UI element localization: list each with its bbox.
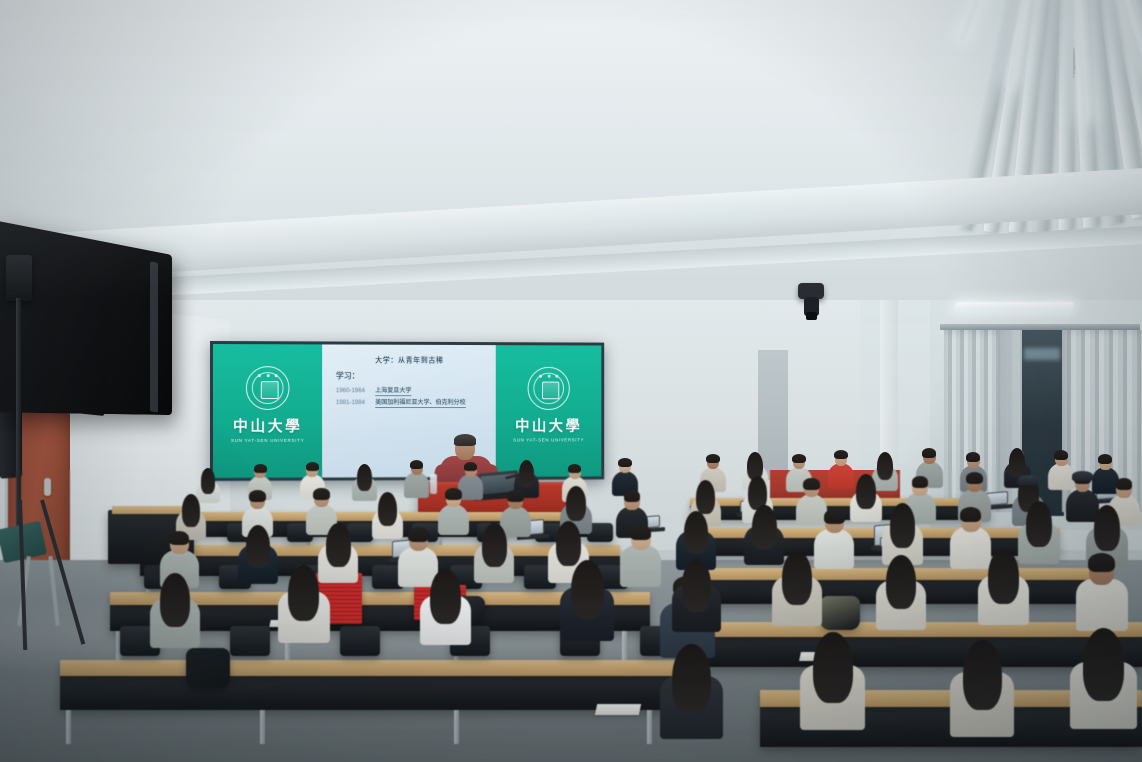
audience-long-hair [1083, 628, 1124, 701]
audience-member [772, 548, 822, 624]
door-handle-icon[interactable] [44, 478, 51, 496]
audience-long-hair [813, 632, 853, 703]
wall-mounted-tv[interactable] [0, 220, 172, 415]
audience-member [978, 546, 1029, 623]
audience-member [850, 472, 882, 521]
audience-hair [1054, 450, 1068, 460]
presenter-hair [454, 434, 476, 446]
audience-hair [1088, 553, 1115, 572]
audience-long-hair [782, 551, 812, 605]
audience-member [800, 628, 865, 727]
slide-entry-text: 上海复旦大学 [375, 387, 411, 395]
audience-torso [438, 504, 469, 535]
audience-long-hair [1026, 501, 1052, 547]
sysu-seal-icon [528, 367, 570, 410]
audience-long-hair [430, 569, 461, 624]
audience-long-hair [246, 525, 270, 568]
backpack [186, 648, 230, 688]
audience-hair [410, 460, 423, 469]
sysu-cn-name: 中山大學 [213, 415, 322, 436]
desk-leg [622, 631, 627, 660]
audience-torso [1076, 579, 1128, 631]
audience-long-hair [482, 523, 507, 567]
classroom-chair[interactable] [230, 626, 270, 656]
audience-hair [249, 490, 265, 502]
desk-leg [647, 710, 652, 744]
backpack [820, 596, 860, 630]
audience-hair [706, 454, 719, 464]
slide-entry-text: 美国加利福尼亚大学、伯克利分校 [375, 399, 465, 407]
tv-edge [150, 261, 158, 412]
audience-long-hair [672, 644, 711, 713]
audience-long-hair [890, 503, 915, 548]
audience-long-hair [682, 559, 712, 612]
audience-long-hair [201, 468, 216, 494]
audience-hair [445, 488, 461, 500]
sysu-cn-name: 中山大學 [496, 415, 602, 436]
audience-hair [1116, 478, 1133, 490]
baseball-cap [1072, 471, 1092, 480]
audience-long-hair [1009, 448, 1025, 477]
audience-member [876, 552, 926, 628]
audience-long-hair [357, 464, 372, 491]
audience-member [1070, 624, 1137, 726]
audience-torso [404, 472, 429, 497]
window-glint [1024, 348, 1060, 360]
audience-hair [792, 454, 805, 464]
audience-long-hair [988, 549, 1019, 604]
audience-long-hair [1094, 505, 1120, 551]
audience-long-hair [571, 560, 604, 619]
audience-long-hair [326, 523, 351, 567]
audience-member [672, 556, 721, 630]
audience-hair [912, 476, 929, 488]
audience-long-hair [182, 494, 200, 527]
audience-member [560, 556, 614, 639]
sysu-en-name: SUN YAT-SEN UNIVERSITY [496, 437, 602, 442]
audience-member [660, 640, 723, 737]
sysu-logo-right: 中山大學 SUN YAT-SEN UNIVERSITY [496, 367, 602, 443]
audience-long-hair [684, 511, 708, 554]
sysu-en-name: SUN YAT-SEN UNIVERSITY [213, 438, 322, 443]
audience-hair [1098, 454, 1112, 464]
audience-member [404, 458, 429, 497]
audience-hair [966, 452, 980, 462]
audience-member [620, 522, 661, 585]
audience-hair [169, 531, 189, 545]
audience-hair [922, 448, 936, 458]
audience-member [238, 522, 278, 582]
audience-hair [464, 462, 477, 471]
student-desk [60, 660, 680, 676]
audience-long-hair [566, 486, 586, 521]
audience-hair [834, 450, 848, 460]
baseball-cap [1018, 475, 1038, 484]
sysu-logo-left: 中山大學 SUN YAT-SEN UNIVERSITY [213, 366, 322, 443]
audience-hair [254, 464, 267, 473]
desk-leg [454, 710, 459, 744]
audience-hair [960, 507, 982, 522]
water-bottle [430, 474, 437, 494]
audience-hair [507, 490, 523, 502]
audience-hair [618, 458, 631, 468]
audience-hair [630, 525, 652, 540]
audience-long-hair [963, 640, 1002, 710]
audience-long-hair [378, 492, 397, 526]
audience-member [950, 636, 1014, 734]
student-desk [690, 498, 990, 506]
slide-title: 大学：从青年到古稀 [322, 355, 496, 365]
audience-hair [306, 462, 319, 471]
audience-long-hair [752, 505, 777, 549]
audience-hair [824, 509, 845, 524]
paper-sheet [595, 704, 641, 715]
classroom-chair[interactable] [340, 626, 380, 656]
slide-entry-row: 1960-1964上海复旦大学 [336, 385, 412, 394]
audience-long-hair [288, 565, 319, 621]
audience-torso [620, 545, 661, 586]
audience-long-hair [856, 474, 876, 509]
sysu-seal-icon [246, 366, 290, 410]
slide-entry-years: 1960-1964 [336, 387, 375, 394]
audience-member [1076, 550, 1128, 628]
desk-front-panel [60, 676, 680, 710]
audience-member [278, 562, 330, 640]
audience-hair [966, 472, 983, 484]
audience-hair [568, 464, 581, 473]
pa-speaker [6, 255, 32, 301]
audience-member [420, 566, 471, 643]
slide-section-label: 学习： [336, 370, 360, 381]
audience-long-hair [519, 460, 534, 488]
audience-long-hair [160, 573, 190, 627]
audience-hair [313, 488, 329, 500]
audience-member [474, 520, 514, 582]
audience-long-hair [886, 555, 916, 609]
audience-hair [624, 490, 641, 502]
slide-entry-years: 1981-1984 [336, 399, 375, 406]
slide-entry-row: 1981-1984美国加利福尼亚大学、伯克利分校 [336, 397, 466, 406]
ceiling-light-right [954, 302, 1075, 311]
audience-member [150, 570, 200, 646]
audience-hair [408, 527, 429, 542]
audience-member [438, 486, 469, 534]
lecture-hall-photo: 大学：从青年到古稀 学习： 1960-1964上海复旦大学 1981-1984美… [0, 0, 1142, 762]
audience-hair [803, 478, 819, 490]
camera-lens-icon [806, 312, 817, 320]
desk-leg [260, 710, 265, 744]
desk-leg [66, 710, 71, 744]
